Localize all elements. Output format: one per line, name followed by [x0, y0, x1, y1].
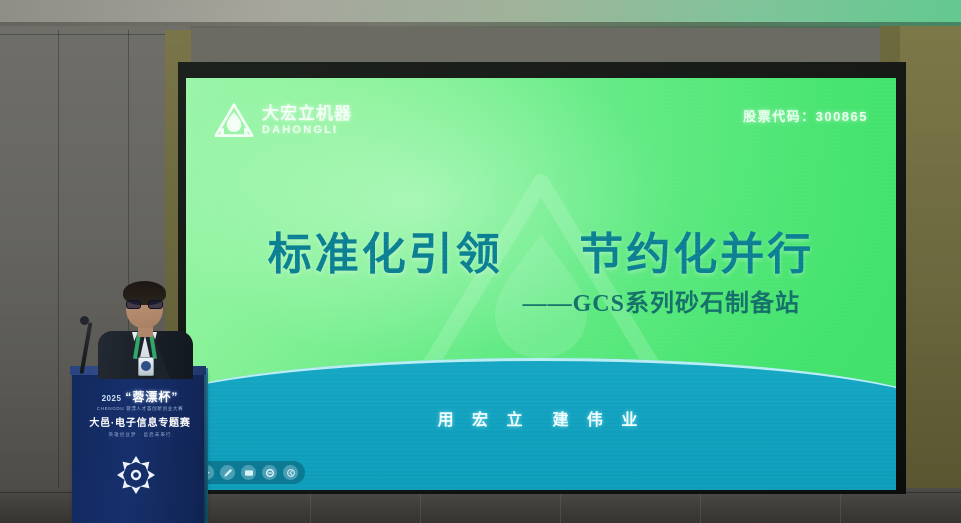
banner-subline: CHENGDU 蓉漂人才荟创新创业大赛: [84, 406, 196, 412]
wall-seam: [58, 30, 59, 490]
slide-title-part1: 标准化引领: [268, 230, 503, 279]
glasses-lens-right: [148, 300, 163, 309]
conference-room-scene: 大宏立机器 DAHONGLI 股票代码：300865 标准化引领 节约化并行 —…: [0, 0, 961, 523]
banner-cup-name: “蓉漂杯”: [125, 388, 178, 405]
slide-slogan: 用 宏 立 建 伟 业: [186, 406, 896, 430]
banner-year: 2025: [102, 394, 122, 403]
company-logo: 大宏立机器 DAHONGLI: [214, 102, 352, 138]
lower-wall-seam: [310, 492, 311, 523]
podium-banner: 2025 “蓉漂杯” CHENGDU 蓉漂人才荟创新创业大赛 大邑·电子信息专题…: [84, 388, 196, 434]
slide-title-part2: 节约化并行: [579, 230, 814, 279]
logo-english-name: DAHONGLI: [262, 125, 352, 136]
stock-code-label: 股票代码：300865: [743, 106, 868, 125]
speaker: [96, 283, 196, 379]
pinwheel-emblem-icon: [113, 452, 159, 498]
logo-chinese-name: 大宏立机器: [262, 105, 352, 122]
zoom-icon[interactable]: [262, 465, 277, 480]
slide-title: 标准化引领 节约化并行: [186, 218, 896, 282]
right-wall: [900, 26, 961, 523]
slide-subtitle: ——GCS系列砂石制备站: [523, 283, 800, 318]
lower-wall-seam: [840, 492, 841, 523]
pen-icon[interactable]: [220, 465, 235, 480]
triangle-droplet-icon: [214, 102, 254, 138]
speaker-badge: [138, 357, 154, 376]
lower-wall-seam: [700, 492, 701, 523]
banner-main-line: 大邑·电子信息专题赛: [84, 414, 196, 429]
more-options-icon[interactable]: [283, 465, 298, 480]
wall-seam: [0, 34, 190, 35]
lower-wall-seam: [560, 492, 561, 523]
speaker-glasses: [126, 300, 163, 309]
glasses-lens-left: [126, 300, 141, 309]
presentation-screen: 大宏立机器 DAHONGLI 股票代码：300865 标准化引领 节约化并行 —…: [186, 78, 896, 490]
slide-view-icon[interactable]: [241, 465, 256, 480]
lower-wall-seam: [420, 492, 421, 523]
presenter-toolbar[interactable]: [192, 461, 305, 484]
banner-tagline: 英雄创业梦 · 邑启未来行: [84, 432, 196, 438]
badge-emblem: [141, 361, 151, 371]
